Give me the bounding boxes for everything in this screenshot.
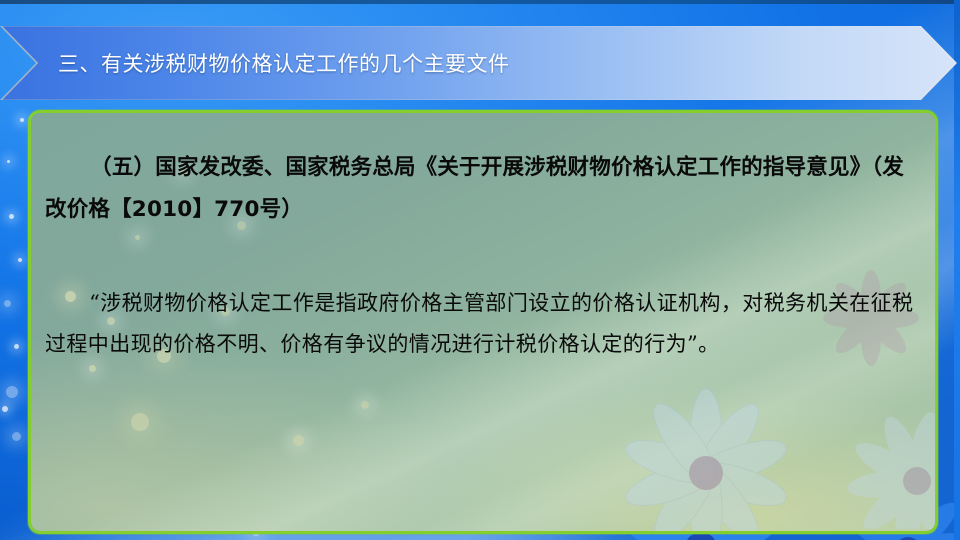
content-panel: （五）国家发改委、国家税务总局《关于开展涉税财物价格认定工作的指导意见》（发改价… bbox=[28, 110, 938, 534]
presentation-slide: 三、有关涉税财物价格认定工作的几个主要文件 bbox=[0, 0, 960, 540]
page-title: 三、有关涉税财物价格认定工作的几个主要文件 bbox=[58, 26, 510, 100]
paragraph-document-reference: （五）国家发改委、国家税务总局《关于开展涉税财物价格认定工作的指导意见》（发改价… bbox=[45, 147, 925, 231]
section-title-banner: 三、有关涉税财物价格认定工作的几个主要文件 bbox=[0, 26, 957, 100]
slide-top-border bbox=[0, 0, 960, 4]
content-panel-text: （五）国家发改委、国家税务总局《关于开展涉税财物价格认定工作的指导意见》（发改价… bbox=[31, 113, 935, 531]
paragraph-definition-quote: “涉税财物价格认定工作是指政府价格主管部门设立的价格认证机构，对税务机关在征税过… bbox=[45, 283, 925, 365]
